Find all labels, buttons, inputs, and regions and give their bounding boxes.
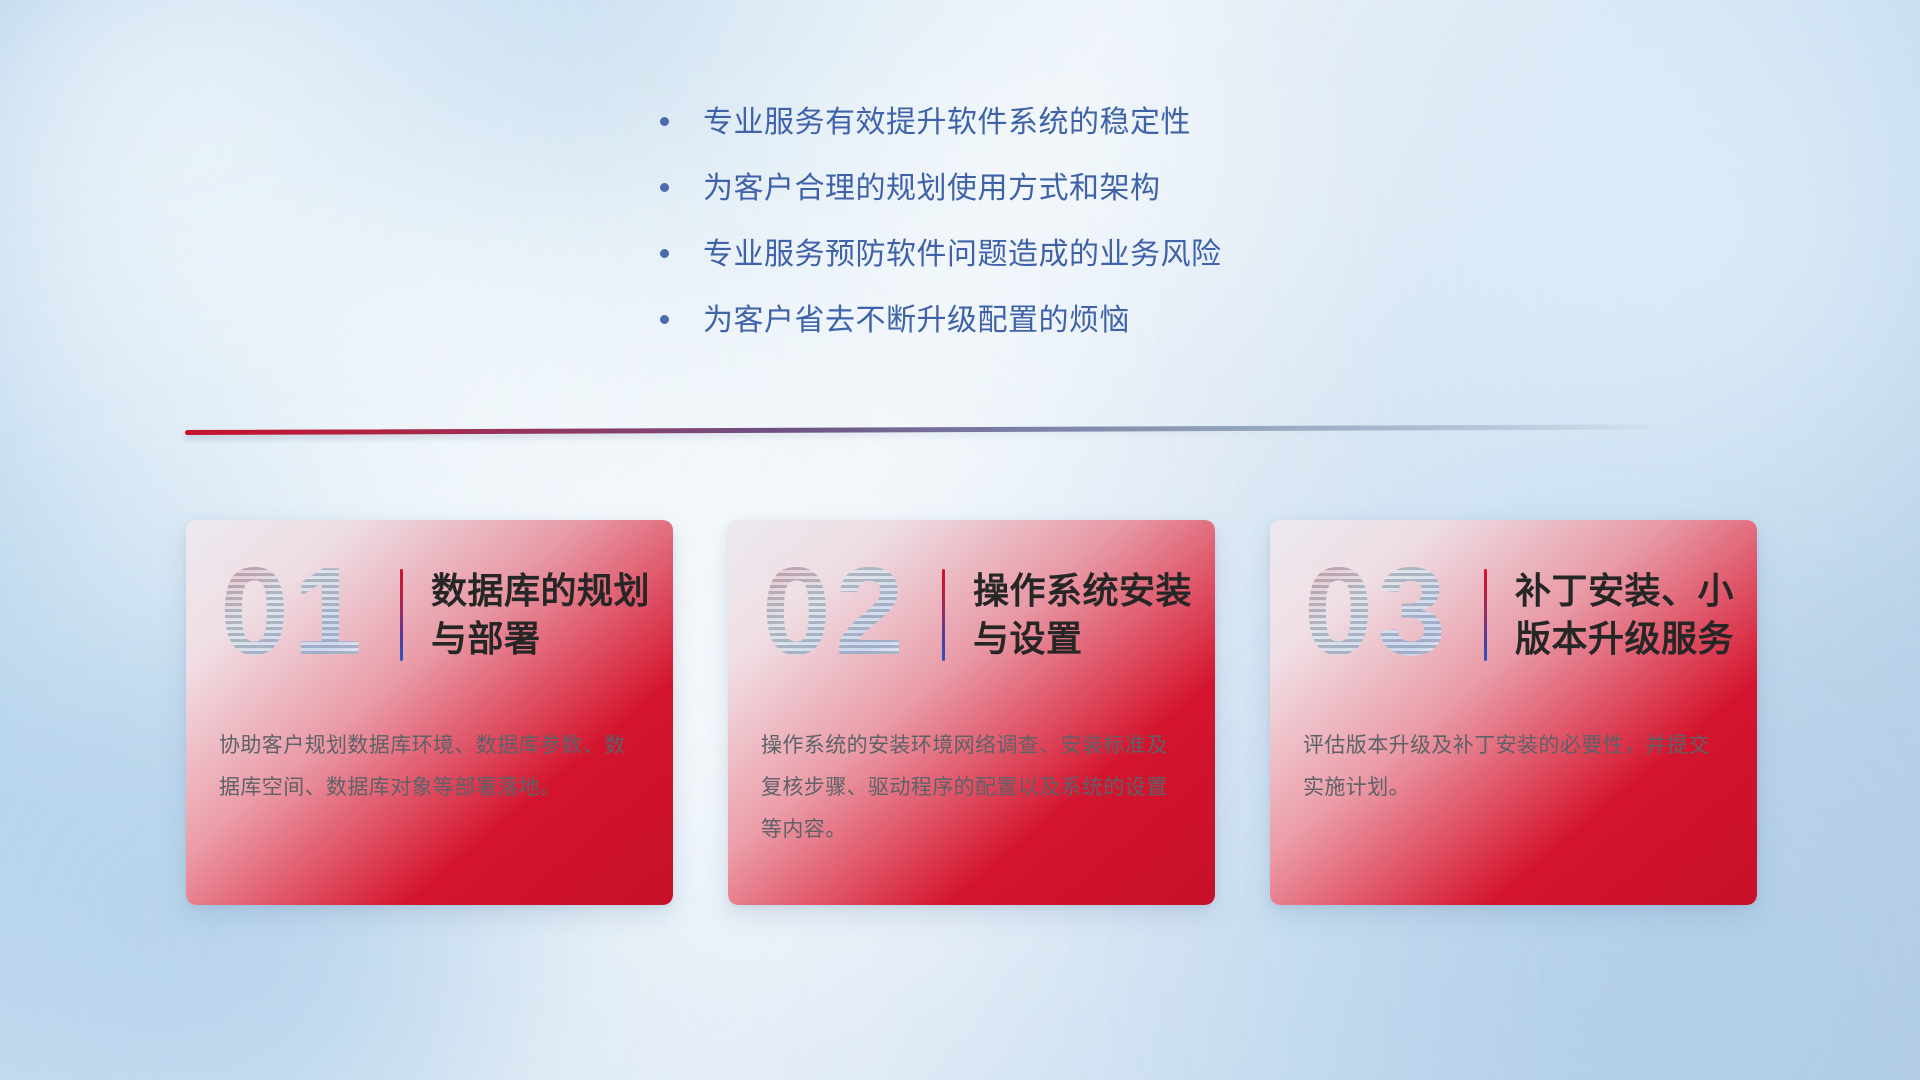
- service-card-group: 01 数据库的规划与部署 协助客户规划数据库环境、数据库参数、数据库空间、数据库…: [186, 520, 1757, 905]
- list-item: 为客户省去不断升级配置的烦恼: [660, 303, 1420, 339]
- bullet-text: 专业服务有效提升软件系统的稳定性: [703, 105, 1191, 141]
- card-number-hatched: 01: [216, 555, 394, 675]
- card-header: 01 数据库的规划与部署: [186, 520, 673, 710]
- bullet-text: 为客户合理的规划使用方式和架构: [703, 171, 1161, 207]
- service-card[interactable]: 01 数据库的规划与部署 协助客户规划数据库环境、数据库参数、数据库空间、数据库…: [186, 520, 673, 905]
- card-header: 03 补丁安装、小版本升级服务: [1270, 520, 1757, 710]
- bullet-text: 为客户省去不断升级配置的烦恼: [703, 303, 1130, 339]
- list-item: 为客户合理的规划使用方式和架构: [660, 171, 1420, 207]
- card-title-divider: [942, 569, 945, 661]
- card-title: 数据库的规划与部署: [431, 567, 673, 662]
- bullet-dot-icon: [660, 183, 669, 192]
- list-item: 专业服务预防软件问题造成的业务风险: [660, 237, 1420, 273]
- benefits-bullet-list: 专业服务有效提升软件系统的稳定性 为客户合理的规划使用方式和架构 专业服务预防软…: [660, 105, 1420, 369]
- card-title: 补丁安装、小版本升级服务: [1515, 567, 1757, 662]
- bullet-dot-icon: [660, 249, 669, 258]
- card-body-text: 协助客户规划数据库环境、数据库参数、数据库空间、数据库对象等部署落地。: [219, 725, 643, 809]
- card-body-text: 操作系统的安装环境网络调查、安装标准及复核步骤、驱动程序的配置以及系统的设置等内…: [761, 725, 1185, 851]
- service-card[interactable]: 02 操作系统安装与设置 操作系统的安装环境网络调查、安装标准及复核步骤、驱动程…: [728, 520, 1215, 905]
- bullet-dot-icon: [660, 315, 669, 324]
- section-divider: [185, 425, 1785, 439]
- card-header: 02 操作系统安装与设置: [728, 520, 1215, 710]
- card-body-text: 评估版本升级及补丁安装的必要性，并提交实施计划。: [1303, 725, 1727, 809]
- card-title: 操作系统安装与设置: [973, 567, 1215, 662]
- card-title-divider: [1484, 569, 1487, 661]
- bullet-text: 专业服务预防软件问题造成的业务风险: [703, 237, 1222, 273]
- service-card[interactable]: 03 补丁安装、小版本升级服务 评估版本升级及补丁安装的必要性，并提交实施计划。: [1270, 520, 1757, 905]
- card-number-hatched: 03: [1300, 555, 1478, 675]
- list-item: 专业服务有效提升软件系统的稳定性: [660, 105, 1420, 141]
- card-title-divider: [400, 569, 403, 661]
- bullet-dot-icon: [660, 117, 669, 126]
- card-number-hatched: 02: [758, 555, 936, 675]
